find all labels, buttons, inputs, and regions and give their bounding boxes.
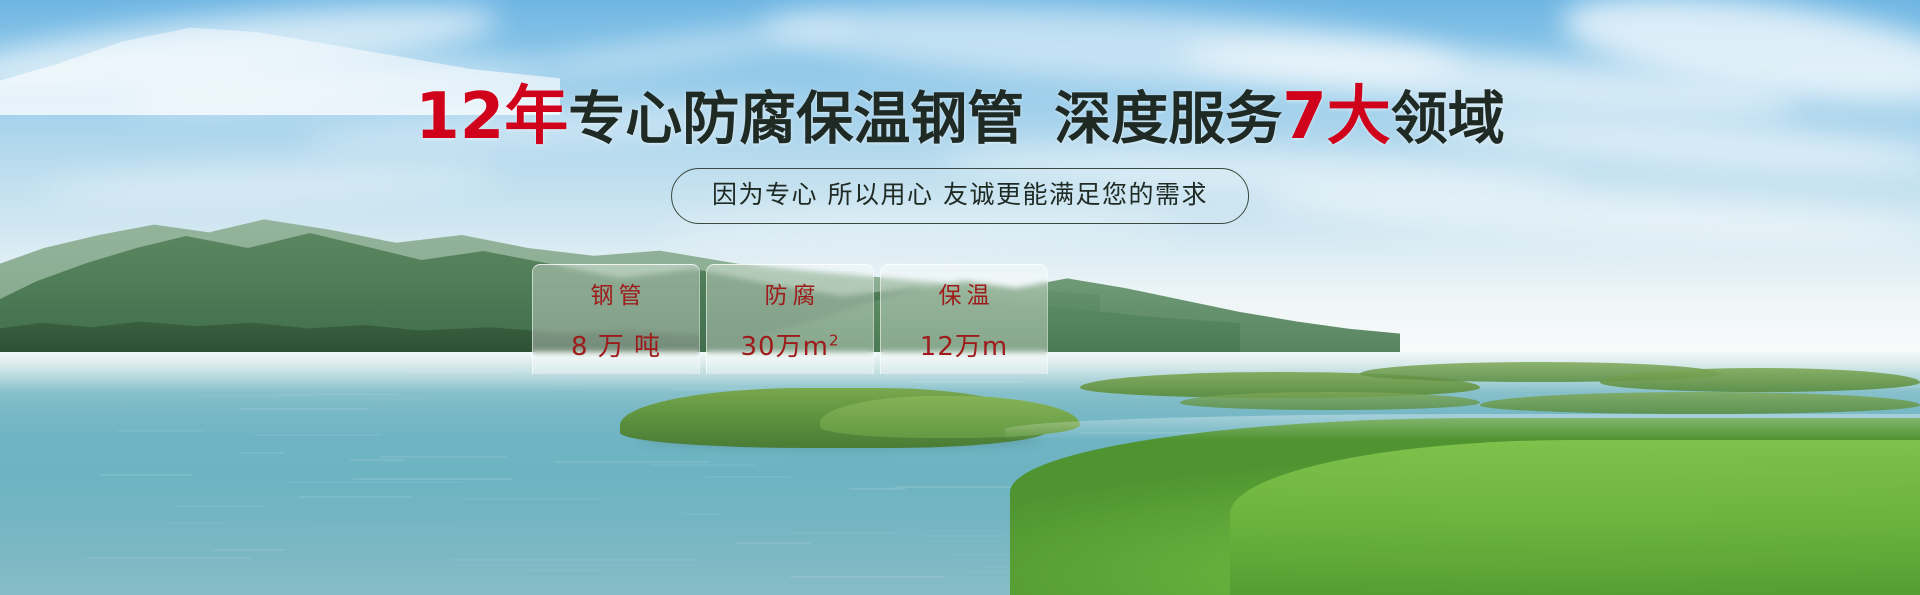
- stat-value-exponent: 2: [829, 331, 840, 349]
- banner-content: 12年专心防腐保温钢管深度服务7大领域 因为专心 所以用心 友诚更能满足您的需求…: [0, 0, 1920, 595]
- stat-card-steel-pipe[interactable]: 钢管 8 万 吨: [532, 264, 700, 374]
- headline: 12年专心防腐保温钢管深度服务7大领域: [0, 86, 1920, 150]
- stat-label: 钢管: [586, 276, 647, 310]
- headline-count: 7大: [1282, 80, 1391, 154]
- stat-card-anticorrosion[interactable]: 防腐 30万m2: [706, 264, 874, 374]
- stat-value: 8 万 吨: [571, 326, 661, 363]
- stat-value: 30万m2: [741, 326, 840, 363]
- headline-fields: 领域: [1391, 86, 1505, 152]
- stat-value-text: 30万m: [741, 332, 829, 362]
- stat-value: 12万m: [920, 326, 1008, 363]
- stat-card-insulation[interactable]: 保温 12万m: [880, 264, 1048, 374]
- stat-label: 防腐: [760, 276, 821, 310]
- headline-main: 专心防腐保温钢管: [568, 86, 1024, 152]
- subtitle-pill: 因为专心 所以用心 友诚更能满足您的需求: [671, 168, 1249, 224]
- stat-card-group: 钢管 8 万 吨 防腐 30万m2 保温 12万m: [532, 264, 1048, 374]
- stat-label: 保温: [934, 276, 995, 310]
- headline-service: 深度服务: [1054, 86, 1282, 152]
- headline-years: 12年: [415, 80, 568, 154]
- stat-value-text: 8 万 吨: [571, 332, 661, 362]
- hero-banner: 12年专心防腐保温钢管深度服务7大领域 因为专心 所以用心 友诚更能满足您的需求…: [0, 0, 1920, 595]
- stat-value-text: 12万m: [920, 332, 1008, 362]
